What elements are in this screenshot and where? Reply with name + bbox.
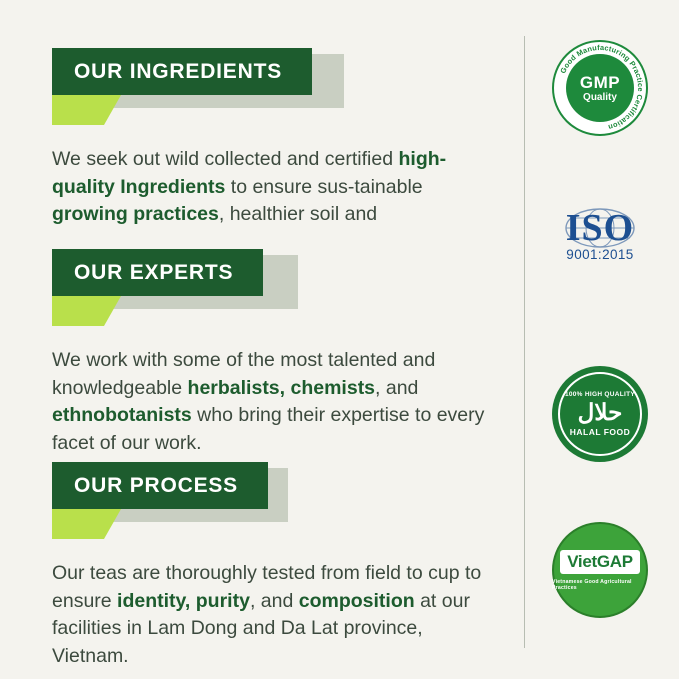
text-run: , and: [375, 377, 418, 399]
vietgap-label-sub: Vietnamese Good Agricultural Practices: [552, 579, 648, 591]
text-run-bold: ethnobotanists: [52, 404, 192, 426]
section-our-process: OUR PROCESS Our teas are thoroughly test…: [52, 462, 512, 671]
vietgap-content: VietGAP Vietnamese Good Agricultural Pra…: [552, 522, 648, 618]
text-run-bold: composition: [299, 590, 415, 612]
section-body-ingredients: We seek out wild collected and certified…: [52, 146, 492, 229]
text-run-bold: identity, purity: [117, 590, 250, 612]
banner-flag-2: [52, 296, 104, 326]
text-run: We seek out wild collected and certified: [52, 148, 399, 170]
section-title-process: OUR PROCESS: [52, 462, 268, 509]
gmp-label-main: GMP: [580, 74, 620, 91]
text-run: , and: [250, 590, 299, 612]
banner-wrap-1: OUR INGREDIENTS: [52, 48, 512, 138]
gmp-label-sub: Quality: [583, 93, 617, 103]
halal-content: 100% HIGH QUALITY حلال HALAL FOOD: [552, 366, 648, 462]
halal-label-bottom: HALAL FOOD: [570, 427, 631, 437]
banner-flag-3: [52, 509, 104, 539]
gmp-badge: Good Manufacturing Practice Certificatio…: [552, 40, 648, 136]
banner-wrap-3: OUR PROCESS: [52, 462, 512, 552]
iso-text: ISO: [566, 207, 634, 249]
content-column: OUR INGREDIENTS We seek out wild collect…: [0, 0, 520, 679]
halal-badge: 100% HIGH QUALITY حلال HALAL FOOD: [552, 366, 648, 462]
section-body-process: Our teas are thoroughly tested from fiel…: [52, 560, 492, 671]
certification-badges: Good Manufacturing Practice Certificatio…: [545, 40, 655, 678]
iso-label-sub: 9001:2015: [552, 247, 648, 262]
section-body-experts: We work with some of the most talented a…: [52, 347, 492, 458]
iso-label-main: ISO: [566, 210, 634, 246]
text-run-bold: growing practices: [52, 203, 219, 225]
section-title-ingredients: OUR INGREDIENTS: [52, 48, 312, 95]
iso-badge: ISO 9001:2015: [552, 196, 648, 306]
vietgap-label-main: VietGAP: [560, 550, 640, 574]
halal-label-top: 100% HIGH QUALITY: [565, 391, 635, 398]
vietgap-badge: VietGAP Vietnamese Good Agricultural Pra…: [552, 522, 648, 618]
halal-arabic-glyph: حلال: [578, 401, 623, 424]
infographic-page: OUR INGREDIENTS We seek out wild collect…: [0, 0, 679, 679]
text-run-bold: herbalists, chemists: [188, 377, 376, 399]
banner-wrap-2: OUR EXPERTS: [52, 249, 512, 339]
section-our-ingredients: OUR INGREDIENTS We seek out wild collect…: [52, 48, 512, 229]
section-title-experts: OUR EXPERTS: [52, 249, 263, 296]
banner-flag-1: [52, 95, 104, 125]
section-our-experts: OUR EXPERTS We work with some of the mos…: [52, 249, 512, 458]
vertical-divider: [524, 36, 525, 648]
text-run: , healthier soil and: [219, 203, 377, 225]
gmp-inner-disc: GMP Quality: [566, 54, 634, 122]
text-run: to ensure sus-tainable: [225, 176, 422, 198]
